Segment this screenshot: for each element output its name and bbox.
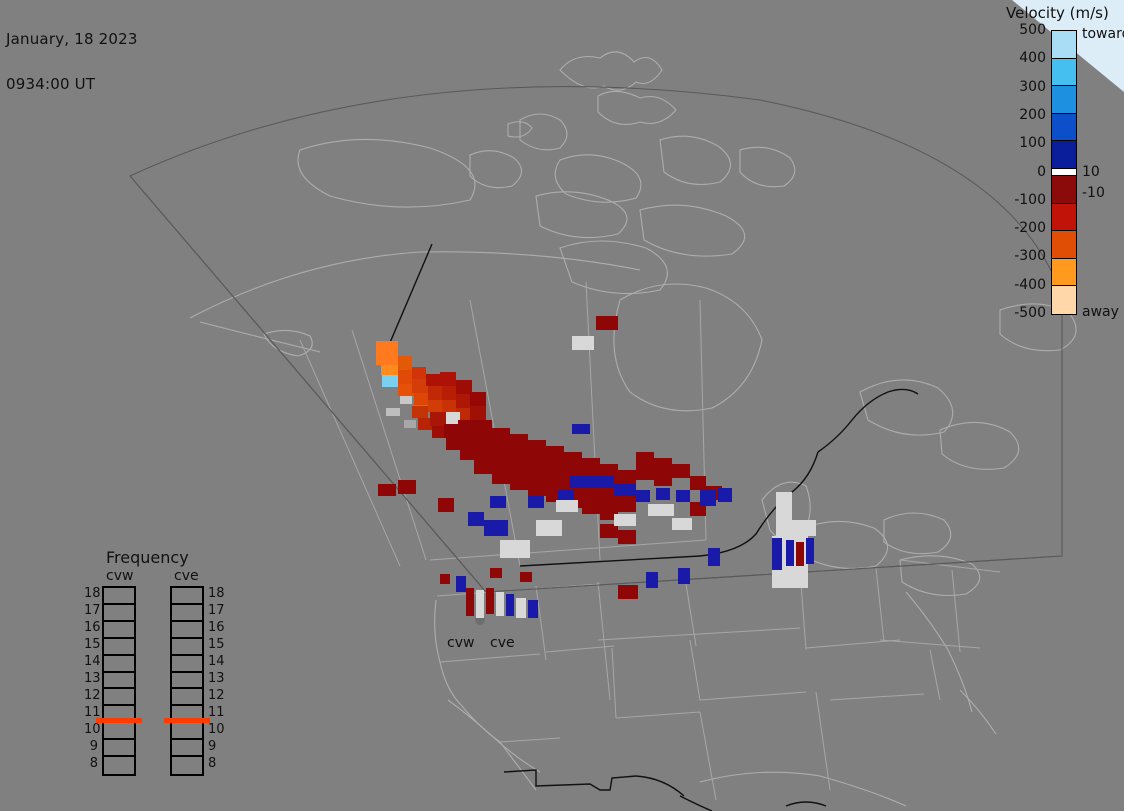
radar-cell (470, 392, 486, 406)
velocity-colorbar-strip (1051, 30, 1077, 315)
timestamp-time: 0934:00 UT (6, 77, 138, 92)
velocity-colorbar: Velocity (m/s) 5004003002001000-100-200-… (1002, 4, 1124, 324)
radar-cell (654, 458, 672, 472)
radar-cell (796, 542, 804, 566)
radar-cell (474, 448, 492, 462)
velocity-tick-label: 100 (998, 137, 1046, 149)
radar-cell (440, 372, 456, 386)
radar-cell (484, 520, 508, 536)
velocity-band (1052, 169, 1076, 176)
frequency-tick-label: 18 (84, 588, 98, 599)
frequency-tick-label: 18 (208, 588, 222, 599)
frequency-tick-label: 14 (84, 656, 98, 667)
radar-cell (636, 490, 650, 502)
radar-cell (412, 367, 426, 379)
radar-cell (400, 396, 412, 404)
velocity-colorbar-title: Velocity (m/s) (1006, 4, 1124, 22)
radar-cell (510, 476, 528, 490)
frequency-tick-label: 8 (208, 758, 222, 769)
velocity-tick-label: 0 (998, 166, 1046, 178)
radar-cell (506, 594, 514, 616)
radar-cell (492, 428, 510, 442)
frequency-tick-label: 12 (84, 690, 98, 701)
radar-cell (510, 448, 528, 462)
velocity-tick-label: 500 (998, 24, 1046, 36)
frequency-row (104, 689, 134, 706)
radar-cell (466, 588, 474, 616)
radar-cell (582, 500, 600, 514)
radar-cell (528, 454, 546, 468)
radar-cell (528, 482, 546, 496)
radar-cell (474, 462, 492, 474)
radar-cell (492, 470, 510, 484)
radar-cell (378, 484, 396, 496)
radar-cell (654, 472, 672, 486)
frequency-row (104, 605, 134, 622)
frequency-tick-label: 13 (84, 673, 98, 684)
radar-cell (672, 518, 692, 530)
radar-cell (582, 458, 600, 472)
radar-cell (528, 496, 544, 508)
frequency-row (104, 723, 134, 740)
velocity-tick-label: -300 (998, 250, 1046, 262)
frequency-tick-label: 16 (84, 622, 98, 633)
radar-cell (690, 476, 706, 490)
radar-cell (648, 504, 674, 516)
frequency-row (104, 757, 134, 774)
frequency-row (104, 673, 134, 690)
radar-cell (570, 476, 614, 488)
velocity-band (1052, 141, 1076, 169)
frequency-column-cvw (102, 586, 136, 776)
frequency-tick-label: 9 (84, 741, 98, 752)
radar-cell (381, 365, 399, 375)
radar-cell (376, 341, 398, 365)
radar-cell (564, 452, 582, 466)
frequency-marker (96, 718, 142, 723)
frequency-tick-label: 17 (208, 605, 222, 616)
radar-cell (458, 420, 474, 434)
radar-cell (510, 462, 528, 476)
frequency-row (172, 740, 202, 757)
radar-cell (596, 316, 618, 330)
radar-cell (600, 524, 618, 538)
radar-cell (496, 592, 504, 616)
velocity-tick-label: -100 (998, 194, 1046, 206)
radar-cell (412, 406, 428, 418)
radar-cell (618, 498, 636, 512)
frequency-tick-label: 8 (84, 758, 98, 769)
velocity-tick-label: -500 (998, 307, 1046, 319)
radar-cell (386, 408, 400, 416)
frequency-tick-label: 15 (208, 639, 222, 650)
frequency-row (172, 622, 202, 639)
timestamp-date: January, 18 2023 (6, 32, 138, 47)
radar-cell (536, 520, 562, 536)
radar-cell (636, 466, 654, 480)
velocity-band (1052, 176, 1076, 204)
frequency-column-header-cvw: cvw (106, 568, 133, 584)
radar-cell (572, 424, 590, 434)
velocity-band (1052, 114, 1076, 142)
radar-cell (470, 406, 486, 420)
velocity-band (1052, 231, 1076, 259)
radar-cell (582, 486, 600, 500)
radar-cell (404, 420, 416, 428)
frequency-row (172, 639, 202, 656)
frequency-legend: Frequency cvw cve 1818171716161515141413… (84, 548, 264, 783)
frequency-marker (164, 718, 210, 723)
frequency-row (104, 656, 134, 673)
radar-cell (672, 464, 690, 478)
radar-cell (772, 538, 782, 570)
frequency-row (172, 605, 202, 622)
radar-cell (440, 574, 450, 584)
frequency-row (172, 656, 202, 673)
radar-cell (678, 568, 690, 584)
timestamp: January, 18 2023 0934:00 UT (6, 2, 138, 122)
radar-cell (718, 488, 732, 502)
radar-cell (556, 500, 578, 512)
velocity-tick-label: 300 (998, 81, 1046, 93)
frequency-column-header-cve: cve (174, 568, 199, 584)
radar-site-label-cvw: cvw (447, 635, 474, 651)
frequency-tick-label: 14 (208, 656, 222, 667)
velocity-band (1052, 286, 1076, 314)
radar-cell (614, 484, 636, 496)
velocity-toward-label: toward (1082, 28, 1124, 40)
frequency-row (104, 588, 134, 605)
radar-cell (516, 598, 526, 618)
radar-cell (510, 434, 528, 448)
radar-cell (546, 474, 564, 488)
frequency-tick-label: 13 (208, 673, 222, 684)
velocity-band (1052, 259, 1076, 287)
frequency-column-cve (170, 586, 204, 776)
frequency-legend-title: Frequency (106, 548, 189, 567)
frequency-tick-label: 15 (84, 639, 98, 650)
frequency-tick-label: 16 (208, 622, 222, 633)
radar-cell (492, 442, 510, 456)
velocity-away-label: away (1082, 306, 1119, 318)
radar-cell (656, 488, 670, 500)
radar-cell (474, 420, 492, 434)
velocity-band (1052, 59, 1076, 87)
frequency-row (104, 622, 134, 639)
radar-cell (618, 530, 636, 544)
radar-cell (474, 434, 492, 448)
frequency-tick-label: 9 (208, 741, 222, 752)
radar-cell (438, 498, 454, 512)
radar-cell (618, 470, 636, 484)
radar-cell (546, 446, 564, 460)
velocity-inner-positive-label: 10 (1082, 166, 1100, 178)
radar-cell (700, 490, 716, 506)
radar-cell (398, 356, 412, 370)
radar-cell (476, 590, 484, 618)
velocity-tick-label: -400 (998, 279, 1046, 291)
frequency-tick-label: 10 (208, 724, 222, 735)
frequency-row (172, 588, 202, 605)
radar-cell (546, 460, 564, 474)
radar-cell (646, 572, 658, 588)
radar-cell (528, 600, 538, 618)
radar-cell (786, 540, 794, 566)
radar-cell (708, 548, 720, 566)
velocity-band (1052, 204, 1076, 232)
radar-cell (398, 480, 416, 494)
radar-cell (528, 468, 546, 482)
frequency-row (172, 673, 202, 690)
radar-cell (490, 496, 506, 508)
velocity-band (1052, 86, 1076, 114)
frequency-row (172, 689, 202, 706)
radar-cell (806, 538, 814, 564)
radar-cell (618, 585, 638, 599)
radar-cell (614, 514, 636, 526)
radar-cell (492, 456, 510, 470)
radar-cell (500, 540, 530, 558)
radar-cell (486, 588, 494, 614)
frequency-row (104, 740, 134, 757)
frequency-tick-label: 17 (84, 605, 98, 616)
radar-cell (520, 572, 532, 582)
radar-cell (636, 452, 654, 466)
frequency-tick-label: 12 (208, 690, 222, 701)
frequency-tick-label: 11 (84, 707, 98, 718)
velocity-inner-negative-label: -10 (1082, 187, 1105, 199)
frequency-row (172, 723, 202, 740)
frequency-tick-label: 11 (208, 707, 222, 718)
radar-cell (468, 512, 484, 526)
frequency-row (172, 757, 202, 774)
radar-cell (776, 492, 792, 520)
velocity-tick-label: 200 (998, 109, 1046, 121)
radar-cell (572, 336, 594, 350)
radar-site-label-cve: cve (490, 635, 515, 651)
radar-cell (490, 568, 502, 578)
velocity-tick-label: -200 (998, 222, 1046, 234)
radar-map-visualization: January, 18 2023 0934:00 UT Velocity (m/… (0, 0, 1124, 811)
radar-cell (456, 576, 466, 592)
radar-cell (776, 520, 816, 536)
velocity-tick-label: 400 (998, 52, 1046, 64)
radar-cell (676, 490, 690, 502)
frequency-tick-label: 10 (84, 724, 98, 735)
radar-cell (528, 440, 546, 454)
velocity-band (1052, 31, 1076, 59)
frequency-row (104, 639, 134, 656)
